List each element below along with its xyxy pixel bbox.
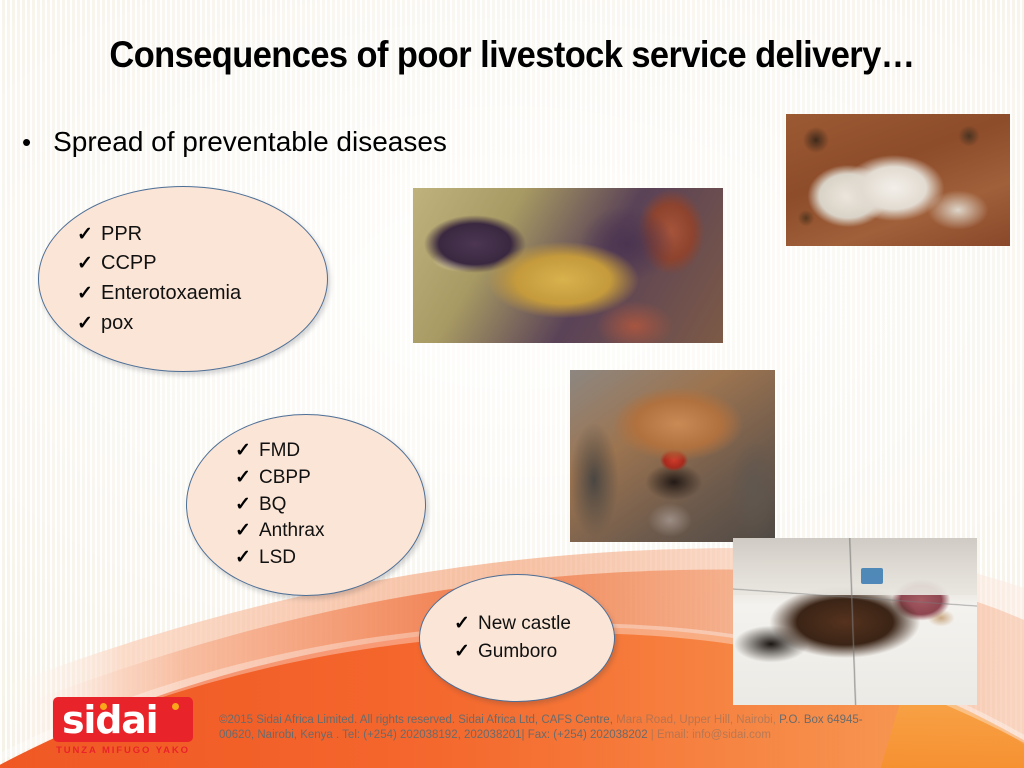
list-item-label: LSD xyxy=(259,545,296,572)
check-icon: ✓ xyxy=(235,492,259,519)
poultry-disease-list: ✓ New castle ✓ Gumboro xyxy=(420,610,614,665)
list-item: ✓ New castle xyxy=(454,610,614,638)
list-item: ✓ CBPP xyxy=(235,465,425,492)
photo-goat-head-ppr-lesions xyxy=(413,188,723,343)
logo-badge: sidai xyxy=(53,697,193,742)
list-item: ✓ PPR xyxy=(77,220,327,250)
logo-dot-icon xyxy=(172,703,179,710)
list-item: ✓ pox xyxy=(77,309,327,339)
footer-copyright-line-1: ©2015 Sidai Africa Limited. All rights r… xyxy=(219,713,899,728)
callout-poultry-diseases[interactable]: ✓ New castle ✓ Gumboro xyxy=(419,574,615,702)
photo-goat-image xyxy=(413,188,723,343)
check-icon: ✓ xyxy=(235,438,259,465)
small-ruminant-disease-list: ✓ PPR ✓ CCPP ✓ Enterotoxaemia ✓ pox xyxy=(39,220,327,338)
footer-text: ©2015 Sidai Africa Limited. All rights r… xyxy=(219,714,616,726)
check-icon: ✓ xyxy=(235,465,259,492)
check-icon: ✓ xyxy=(77,310,101,338)
presentation-slide: Consequences of poor livestock service d… xyxy=(0,0,1024,768)
photo-dead-cow-on-red-soil xyxy=(786,114,1010,246)
list-item-label: pox xyxy=(101,309,133,339)
check-icon: ✓ xyxy=(235,545,259,572)
list-item: ✓ BQ xyxy=(235,492,425,519)
list-item-label: New castle xyxy=(478,610,571,638)
check-icon: ✓ xyxy=(454,638,478,666)
logo-dot-icon xyxy=(100,703,107,710)
photo-chicken-tile-grout xyxy=(733,538,977,705)
photo-hoof-image xyxy=(570,370,775,542)
footer-text: 00620, Nairobi, Kenya . Tel: (+254) 2020… xyxy=(219,729,651,741)
list-item-label: CCPP xyxy=(101,249,157,279)
list-item: ✓ LSD xyxy=(235,545,425,572)
logo-wordmark: sidai xyxy=(62,698,158,742)
footer-text-obscured: Mara Road, Upper Hill, Nairobi, xyxy=(616,714,776,726)
list-item: ✓ Enterotoxaemia xyxy=(77,279,327,309)
list-item-label: Gumboro xyxy=(478,638,557,666)
footer-copyright: ©2015 Sidai Africa Limited. All rights r… xyxy=(219,713,899,743)
footer-copyright-line-2: 00620, Nairobi, Kenya . Tel: (+254) 2020… xyxy=(219,728,899,743)
callout-cattle-diseases[interactable]: ✓ FMD ✓ CBPP ✓ BQ ✓ Anthrax ✓ LSD xyxy=(186,414,426,596)
bullet-text: Spread of preventable diseases xyxy=(53,126,447,158)
check-icon: ✓ xyxy=(77,250,101,278)
list-item: ✓ CCPP xyxy=(77,249,327,279)
list-item-label: FMD xyxy=(259,438,300,465)
list-item: ✓ Gumboro xyxy=(454,638,614,666)
check-icon: ✓ xyxy=(77,221,101,249)
footer-text: P.O. Box 64945- xyxy=(776,714,863,726)
list-item-label: Enterotoxaemia xyxy=(101,279,241,309)
cattle-disease-list: ✓ FMD ✓ CBPP ✓ BQ ✓ Anthrax ✓ LSD xyxy=(187,438,425,573)
photo-dead-cow-image xyxy=(786,114,1010,246)
list-item-label: BQ xyxy=(259,492,286,519)
list-item: ✓ FMD xyxy=(235,438,425,465)
logo-tagline: TUNZA MIFUGO YAKO xyxy=(53,745,193,756)
list-item: ✓ Anthrax xyxy=(235,518,425,545)
bullet-line: • Spread of preventable diseases xyxy=(22,126,447,158)
slide-title: Consequences of poor livestock service d… xyxy=(36,34,988,76)
list-item-label: Anthrax xyxy=(259,518,324,545)
photo-cattle-hoof-fmd-lesion xyxy=(570,370,775,542)
check-icon: ✓ xyxy=(235,518,259,545)
callout-small-ruminant-diseases[interactable]: ✓ PPR ✓ CCPP ✓ Enterotoxaemia ✓ pox xyxy=(38,186,328,372)
check-icon: ✓ xyxy=(454,610,478,638)
bullet-marker-icon: • xyxy=(22,129,31,155)
list-item-label: CBPP xyxy=(259,465,311,492)
list-item-label: PPR xyxy=(101,220,142,250)
footer-text-obscured: | Email: info@sidai.com xyxy=(651,729,771,741)
check-icon: ✓ xyxy=(77,280,101,308)
photo-sick-chicken-on-tiles xyxy=(733,538,977,705)
sidai-logo: sidai TUNZA MIFUGO YAKO xyxy=(53,697,193,756)
